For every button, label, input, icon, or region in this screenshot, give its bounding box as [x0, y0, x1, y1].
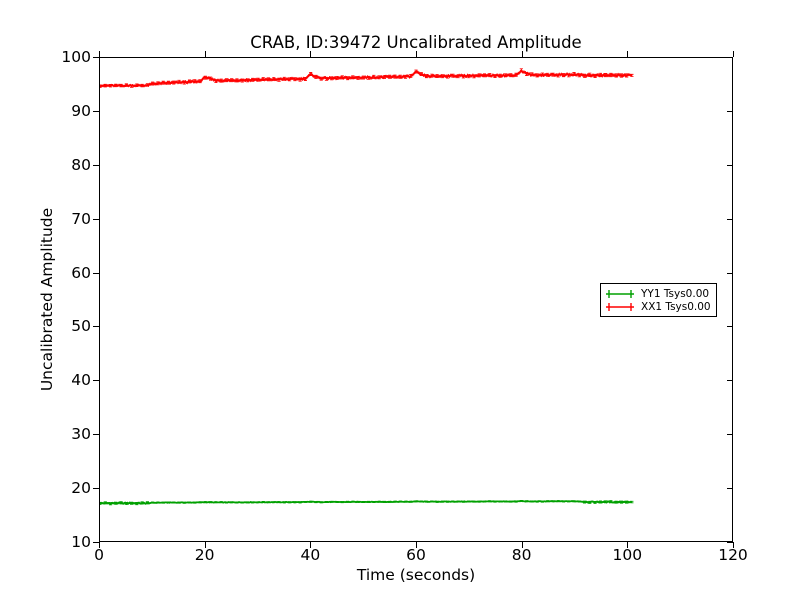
page-title: CRAB, ID:39472 Uncalibrated Amplitude: [99, 33, 733, 52]
y-tick-mark-right: [727, 111, 733, 112]
y-tick-label: 20: [71, 479, 91, 497]
y-tick-mark: [93, 111, 99, 112]
y-tick-mark: [93, 380, 99, 381]
y-tick-mark: [93, 57, 99, 58]
y-tick-mark-right: [727, 273, 733, 274]
x-tick-mark-top: [310, 51, 311, 57]
legend-swatch-xx1-icon: [605, 301, 635, 313]
legend-label-xx1: XX1 Tsys0.00: [641, 301, 711, 313]
y-tick-label: 60: [71, 264, 91, 282]
series-xx1: [100, 69, 634, 88]
legend-item-xx1[interactable]: XX1 Tsys0.00: [605, 300, 711, 313]
y-tick-mark-right: [727, 326, 733, 327]
y-tick-mark-right: [727, 165, 733, 166]
legend[interactable]: YY1 Tsys0.00 XX1 Tsys0.00: [600, 283, 717, 317]
y-tick-label: 30: [71, 425, 91, 443]
y-axis-label: Uncalibrated Amplitude: [38, 57, 58, 542]
y-tick-label: 90: [71, 102, 91, 120]
legend-swatch-yy1-icon: [605, 288, 635, 300]
series-yy1: [100, 500, 634, 504]
x-tick-label: 80: [512, 546, 532, 564]
y-tick-mark: [93, 165, 99, 166]
x-tick-mark-top: [99, 51, 100, 57]
y-tick-label: 100: [61, 48, 91, 66]
data-line: [100, 501, 632, 504]
x-tick-mark-top: [416, 51, 417, 57]
x-tick-label: 20: [195, 546, 215, 564]
x-tick-label: 0: [94, 546, 104, 564]
y-tick-label: 70: [71, 210, 91, 228]
y-tick-mark-right: [727, 434, 733, 435]
y-tick-mark-right: [727, 219, 733, 220]
y-tick-mark-right: [727, 488, 733, 489]
x-tick-label: 120: [718, 546, 748, 564]
x-tick-label: 40: [300, 546, 320, 564]
y-tick-mark-right: [727, 380, 733, 381]
chart-figure: CRAB, ID:39472 Uncalibrated Amplitude 10…: [0, 0, 800, 600]
x-tick-mark-top: [522, 51, 523, 57]
y-tick-label: 50: [71, 317, 91, 335]
y-tick-label: 40: [71, 371, 91, 389]
data-line: [100, 70, 632, 86]
x-tick-label: 100: [613, 546, 643, 564]
legend-label-yy1: YY1 Tsys0.00: [641, 288, 709, 300]
y-tick-mark: [93, 219, 99, 220]
y-tick-mark: [93, 434, 99, 435]
x-tick-mark-top: [627, 51, 628, 57]
legend-item-yy1[interactable]: YY1 Tsys0.00: [605, 287, 711, 300]
x-axis-label: Time (seconds): [99, 566, 733, 584]
x-tick-mark-top: [205, 51, 206, 57]
x-tick-mark-top: [733, 51, 734, 57]
y-tick-mark: [93, 273, 99, 274]
y-tick-mark: [93, 488, 99, 489]
y-tick-label: 80: [71, 156, 91, 174]
y-tick-mark-right: [727, 57, 733, 58]
x-tick-label: 60: [406, 546, 426, 564]
y-tick-mark: [93, 326, 99, 327]
y-tick-label: 10: [71, 533, 91, 551]
